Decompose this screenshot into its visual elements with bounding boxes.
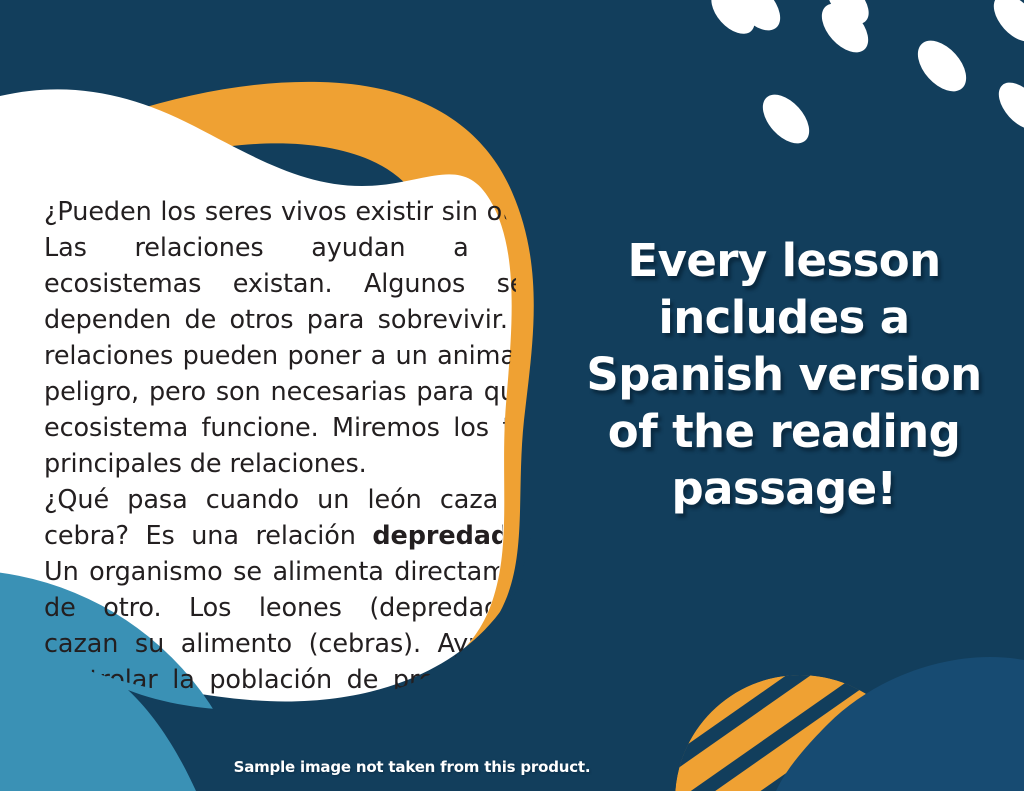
sample-image-disclaimer: Sample image not taken from this product… — [0, 758, 824, 776]
promo-graphic-canvas: ¿Pueden los seres vivos existir sin otro… — [0, 0, 1024, 791]
headline-text: Every lesson includes a Spanish version … — [556, 232, 1012, 517]
